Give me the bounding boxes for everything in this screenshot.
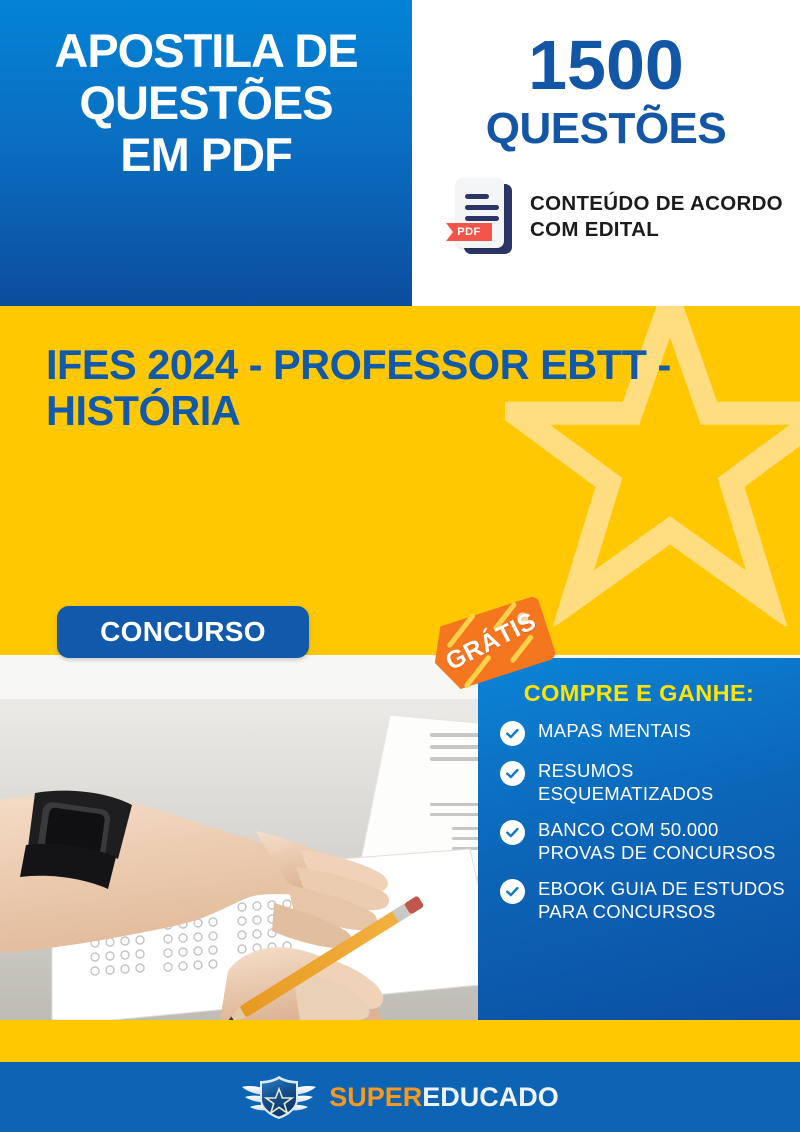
header-title-line-3: EM PDF [0, 132, 412, 178]
promo-poster: APOSTILA DE QUESTÕES EM PDF 1500 QUESTÕE… [0, 0, 800, 1132]
benefits-list: MAPAS MENTAIS RESUMOS ESQUEMATIZADOS BAN… [500, 720, 792, 937]
pdf-ribbon-label: PDF [446, 223, 492, 241]
benefit-label: EBOOK GUIA DE ESTUDOS PARA CONCURSOS [538, 878, 792, 923]
question-label: QUESTÕES [412, 104, 800, 154]
brand-name: SUPEREDUCADO [329, 1082, 559, 1113]
benefit-label: MAPAS MENTAIS [538, 720, 691, 743]
list-item: RESUMOS ESQUEMATIZADOS [500, 760, 792, 805]
brand-name-first: SUPER [329, 1082, 422, 1112]
list-item: EBOOK GUIA DE ESTUDOS PARA CONCURSOS [500, 878, 792, 923]
yellow-divider-bar [0, 1020, 800, 1062]
edital-text: CONTEÚDO DE ACORDO COM EDITAL [530, 191, 800, 242]
footer-bar: SUPEREDUCADO [0, 1062, 800, 1132]
winged-shield-star-icon [241, 1073, 317, 1121]
benefit-label: BANCO COM 50.000 PROVAS DE CONCURSOS [538, 819, 792, 864]
concurso-badge[interactable]: CONCURSO [57, 606, 309, 658]
brand-logo: SUPEREDUCADO [0, 1062, 800, 1132]
list-item: BANCO COM 50.000 PROVAS DE CONCURSOS [500, 819, 792, 864]
header-title-line-1: APOSTILA DE [0, 28, 412, 74]
question-count: 1500 [412, 32, 800, 99]
pdf-icon-text-line [465, 205, 499, 210]
pdf-icon-text-line [465, 216, 499, 221]
header-blue-panel: APOSTILA DE QUESTÕES EM PDF [0, 0, 412, 306]
list-item: MAPAS MENTAIS [500, 720, 792, 746]
yellow-band: IFES 2024 - PROFESSOR EBTT - HISTÓRIA [0, 306, 800, 655]
check-circle-icon [500, 761, 525, 786]
benefits-panel: COMPRE E GANHE: MAPAS MENTAIS RESUMOS ES… [478, 658, 800, 1020]
check-circle-icon [500, 820, 525, 845]
edital-row: PDF CONTEÚDO DE ACORDO COM EDITAL [452, 176, 800, 258]
benefit-label: RESUMOS ESQUEMATIZADOS [538, 760, 792, 805]
header-white-panel: 1500 QUESTÕES PDF CONTEÚDO DE ACORDO COM… [412, 0, 800, 306]
check-circle-icon [500, 721, 525, 746]
check-circle-icon [500, 879, 525, 904]
header-title-line-2: QUESTÕES [0, 80, 412, 126]
header-title-group: APOSTILA DE QUESTÕES EM PDF [0, 28, 412, 184]
brand-name-second: EDUCADO [422, 1082, 559, 1112]
pdf-document-icon: PDF [452, 176, 516, 258]
pdf-icon-text-line [465, 194, 489, 199]
course-title: IFES 2024 - PROFESSOR EBTT - HISTÓRIA [46, 342, 746, 435]
concurso-label: CONCURSO [100, 616, 266, 648]
